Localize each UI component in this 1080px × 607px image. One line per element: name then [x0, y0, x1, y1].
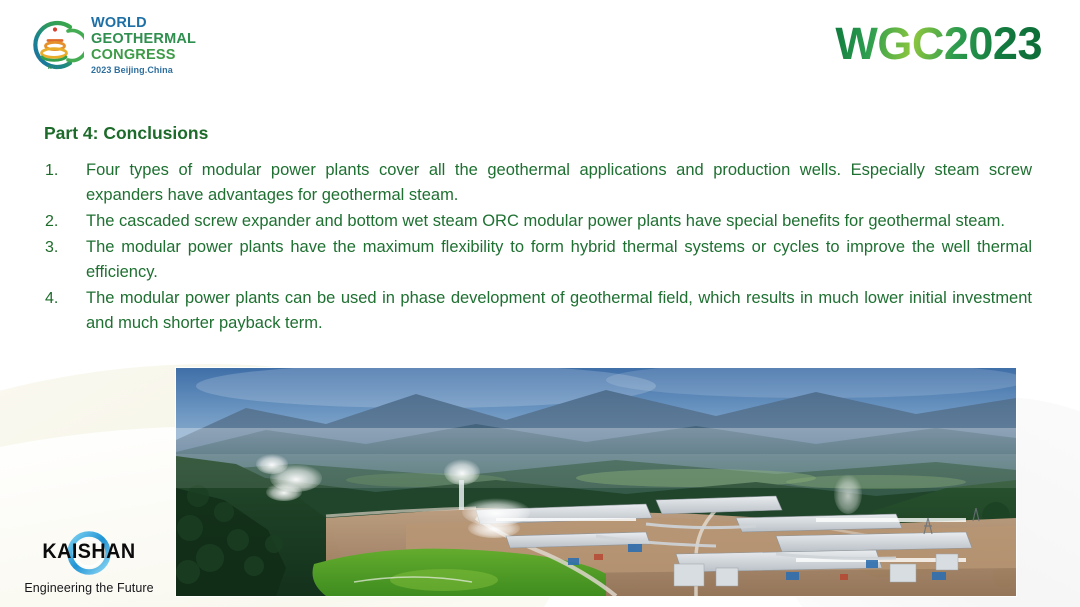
list-item-text: The modular power plants can be used in … [86, 286, 1032, 336]
world-geothermal-congress-logo: WGC WORLD GEOTHERMAL CONGRESS 2023 Beiji… [24, 14, 196, 76]
list-item-number: 4. [42, 286, 86, 311]
page-title: Part 4: Conclusions [44, 123, 208, 144]
wgc-logo-subtitle: 2023 Beijing.China [91, 66, 196, 75]
wgc-circular-spiral-icon: WGC [24, 14, 84, 76]
list-item-text: The cascaded screw expander and bottom w… [86, 209, 1032, 234]
wgc2023-title: WGC2023 [835, 18, 1042, 70]
kaishan-wordmark: KAISHAN [27, 540, 151, 564]
wgc-word-geothermal: GEOTHERMAL [91, 32, 196, 47]
wgc-word-world: WORLD [91, 16, 196, 31]
wgc-word-congress: CONGRESS [91, 48, 196, 63]
kaishan-tagline: Engineering the Future [14, 581, 164, 595]
presentation-slide: WGC WORLD GEOTHERMAL CONGRESS 2023 Beiji… [0, 0, 1080, 607]
list-item-number: 2. [42, 209, 86, 234]
list-item: 3. The modular power plants have the max… [42, 235, 1032, 285]
kaishan-ring-icon: KAISHAN [23, 528, 155, 578]
photo-artwork [176, 368, 1016, 596]
conclusions-list: 1. Four types of modular power plants co… [42, 158, 1032, 337]
list-item: 1. Four types of modular power plants co… [42, 158, 1032, 208]
list-item-number: 1. [42, 158, 86, 183]
kaishan-logo: KAISHAN Engineering the Future [14, 528, 164, 595]
aerial-photo-geothermal-power-plant [176, 368, 1016, 596]
list-item-text: The modular power plants have the maximu… [86, 235, 1032, 285]
list-item-number: 3. [42, 235, 86, 260]
wgc-logo-wordmark: WORLD GEOTHERMAL CONGRESS 2023 Beijing.C… [91, 16, 196, 75]
list-item: 4. The modular power plants can be used … [42, 286, 1032, 336]
slide-header: WGC WORLD GEOTHERMAL CONGRESS 2023 Beiji… [0, 0, 1080, 96]
list-item: 2. The cascaded screw expander and botto… [42, 209, 1032, 234]
list-item-text: Four types of modular power plants cover… [86, 158, 1032, 208]
svg-text:WGC: WGC [47, 65, 60, 71]
